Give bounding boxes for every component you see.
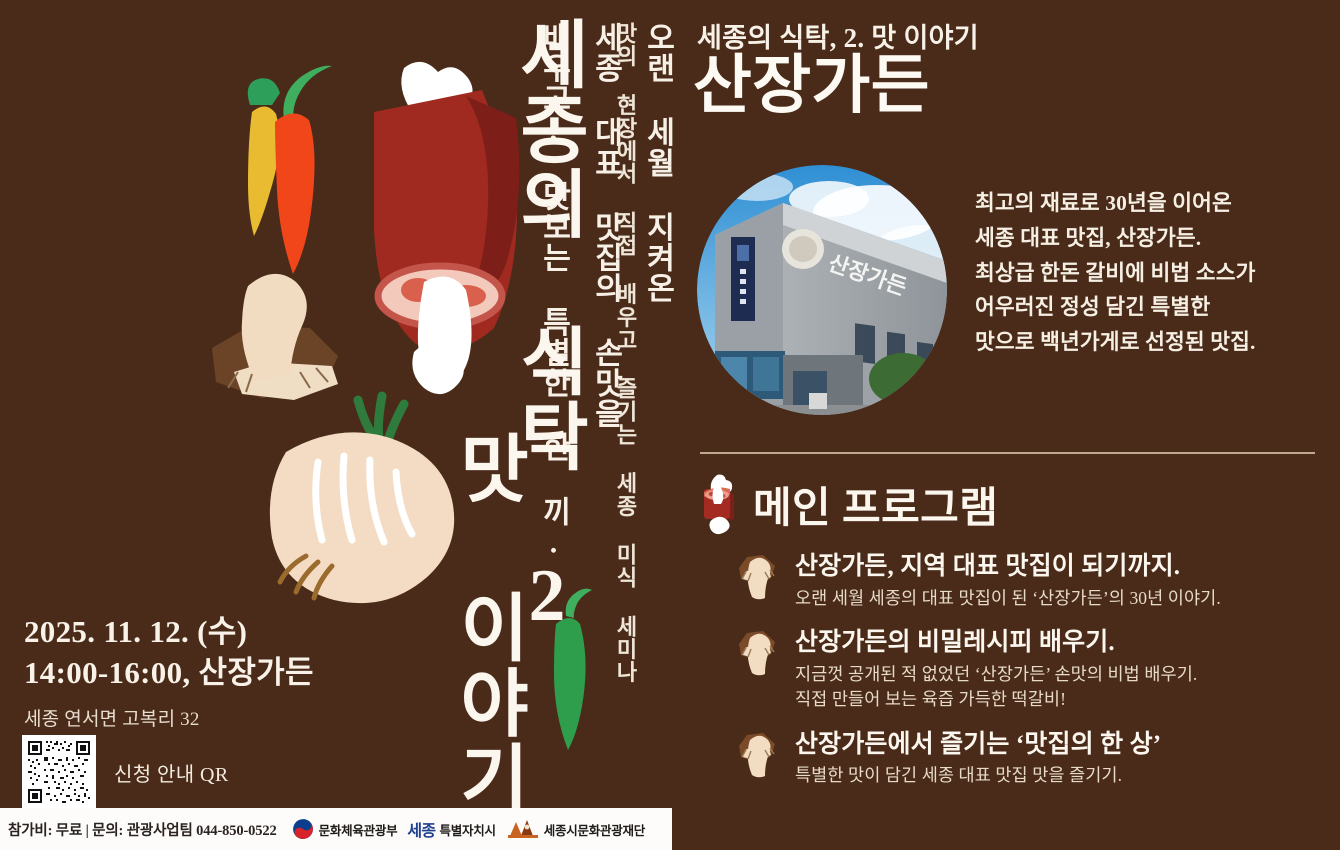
right-panel: 세종의 식탁, 2. 맛 이야기 산장가든 — [675, 0, 1340, 850]
yellow-chili-icon — [248, 78, 280, 236]
logo-mcst: 문화체육관광부 — [291, 817, 398, 841]
qr-code-icon[interactable] — [22, 735, 96, 809]
list-item: 산장가든, 지역 대표 맛집이 되기까지. 오랜 세월 세종의 대표 맛집이 된… — [733, 550, 1333, 610]
foundation-mark-icon — [506, 818, 540, 840]
logo-sejong-foundation: 세종시문화관광재단 — [506, 818, 645, 840]
mushroom-icon-left — [212, 274, 338, 400]
program-heading-row: 메인 프로그램 — [695, 473, 998, 535]
event-date: 2025. 11. 12. (수) — [24, 612, 314, 653]
mushroom-icon — [733, 728, 779, 780]
logo-foundation-label: 세종시문화관광재단 — [544, 820, 645, 839]
red-chili-icon — [275, 66, 332, 274]
program-subtitle: 오랜 세월 세종의 대표 맛집이 된 ‘산장가든’의 30년 이야기. — [795, 586, 1221, 611]
logo-sejong-word: 세종 — [407, 817, 435, 841]
qr-label: 신청 안내 QR — [114, 758, 229, 787]
qr-section[interactable]: 신청 안내 QR — [22, 735, 229, 809]
event-time-place: 14:00-16:00, 산장가든 — [24, 653, 314, 694]
poster-root: 오랜 세월 지켜온 세종 대표 맛집의 손맛을 배우고, 맛보는 특별한 한 끼… — [0, 0, 1340, 850]
mushroom-icon — [733, 550, 779, 602]
section-divider — [700, 452, 1315, 454]
event-date-block: 2025. 11. 12. (수) 14:00-16:00, 산장가든 세종 연… — [24, 612, 314, 731]
vertical-subtitle: 맛의 현장에서 직접 배우고 즐기는 세종 미식 세미나 — [596, 22, 638, 712]
event-address: 세종 연서면 고복리 32 — [24, 704, 314, 731]
logo-mcst-label: 문화체육관광부 — [319, 820, 398, 839]
meat-leg-icon — [374, 62, 519, 394]
footer-bar: 참가비: 무료 | 문의: 관광사업팀 044-850-0522 문화체육관광부… — [0, 808, 672, 850]
list-item: 산장가든의 비밀레시피 배우기. 지금껏 공개된 적 없었던 ‘산장가든’ 손맛… — [733, 626, 1333, 711]
program-title: 산장가든에서 즐기는 ‘맛집의 한 상’ — [795, 730, 1161, 761]
sponsor-logos: 문화체육관광부 세종 특별자치시 세종시문화관광재단 — [291, 817, 645, 841]
mushroom-icon — [733, 626, 779, 678]
restaurant-photo: 산장가든 — [697, 165, 947, 415]
program-subtitle: 특별한 맛이 담긴 세종 대표 맛집 맛을 즐기기. — [795, 763, 1161, 788]
logo-sejong-city: 세종 특별자치시 — [407, 817, 495, 841]
program-title: 산장가든의 비밀레시피 배우기. — [795, 628, 1197, 659]
program-heading: 메인 프로그램 — [753, 474, 998, 535]
program-subtitle: 지금껏 공개된 적 없었던 ‘산장가든’ 손맛의 비법 배우기. 직접 만들어 … — [795, 662, 1197, 712]
footer-info: 참가비: 무료 | 문의: 관광사업팀 044-850-0522 — [8, 819, 277, 840]
logo-sejong-label: 특별자치시 — [440, 820, 496, 839]
restaurant-description: 최고의 재료로 30년을 이어온 세종 대표 맛집, 산장가든. 최상급 한돈 … — [975, 186, 1325, 360]
taegeuk-icon — [291, 817, 315, 841]
program-title: 산장가든, 지역 대표 맛집이 되기까지. — [795, 552, 1221, 583]
meat-icon — [695, 473, 739, 535]
poster-title-line-2: 맛 이야기 — [440, 430, 532, 810]
onion-icon — [270, 396, 454, 603]
page-title: 산장가든 — [693, 52, 930, 119]
program-list: 산장가든, 지역 대표 맛집이 되기까지. 오랜 세월 세종의 대표 맛집이 된… — [733, 550, 1333, 804]
left-panel: 오랜 세월 지켜온 세종 대표 맛집의 손맛을 배우고, 맛보는 특별한 한 끼… — [0, 0, 675, 850]
list-item: 산장가든에서 즐기는 ‘맛집의 한 상’ 특별한 맛이 담긴 세종 대표 맛집 … — [733, 728, 1333, 788]
